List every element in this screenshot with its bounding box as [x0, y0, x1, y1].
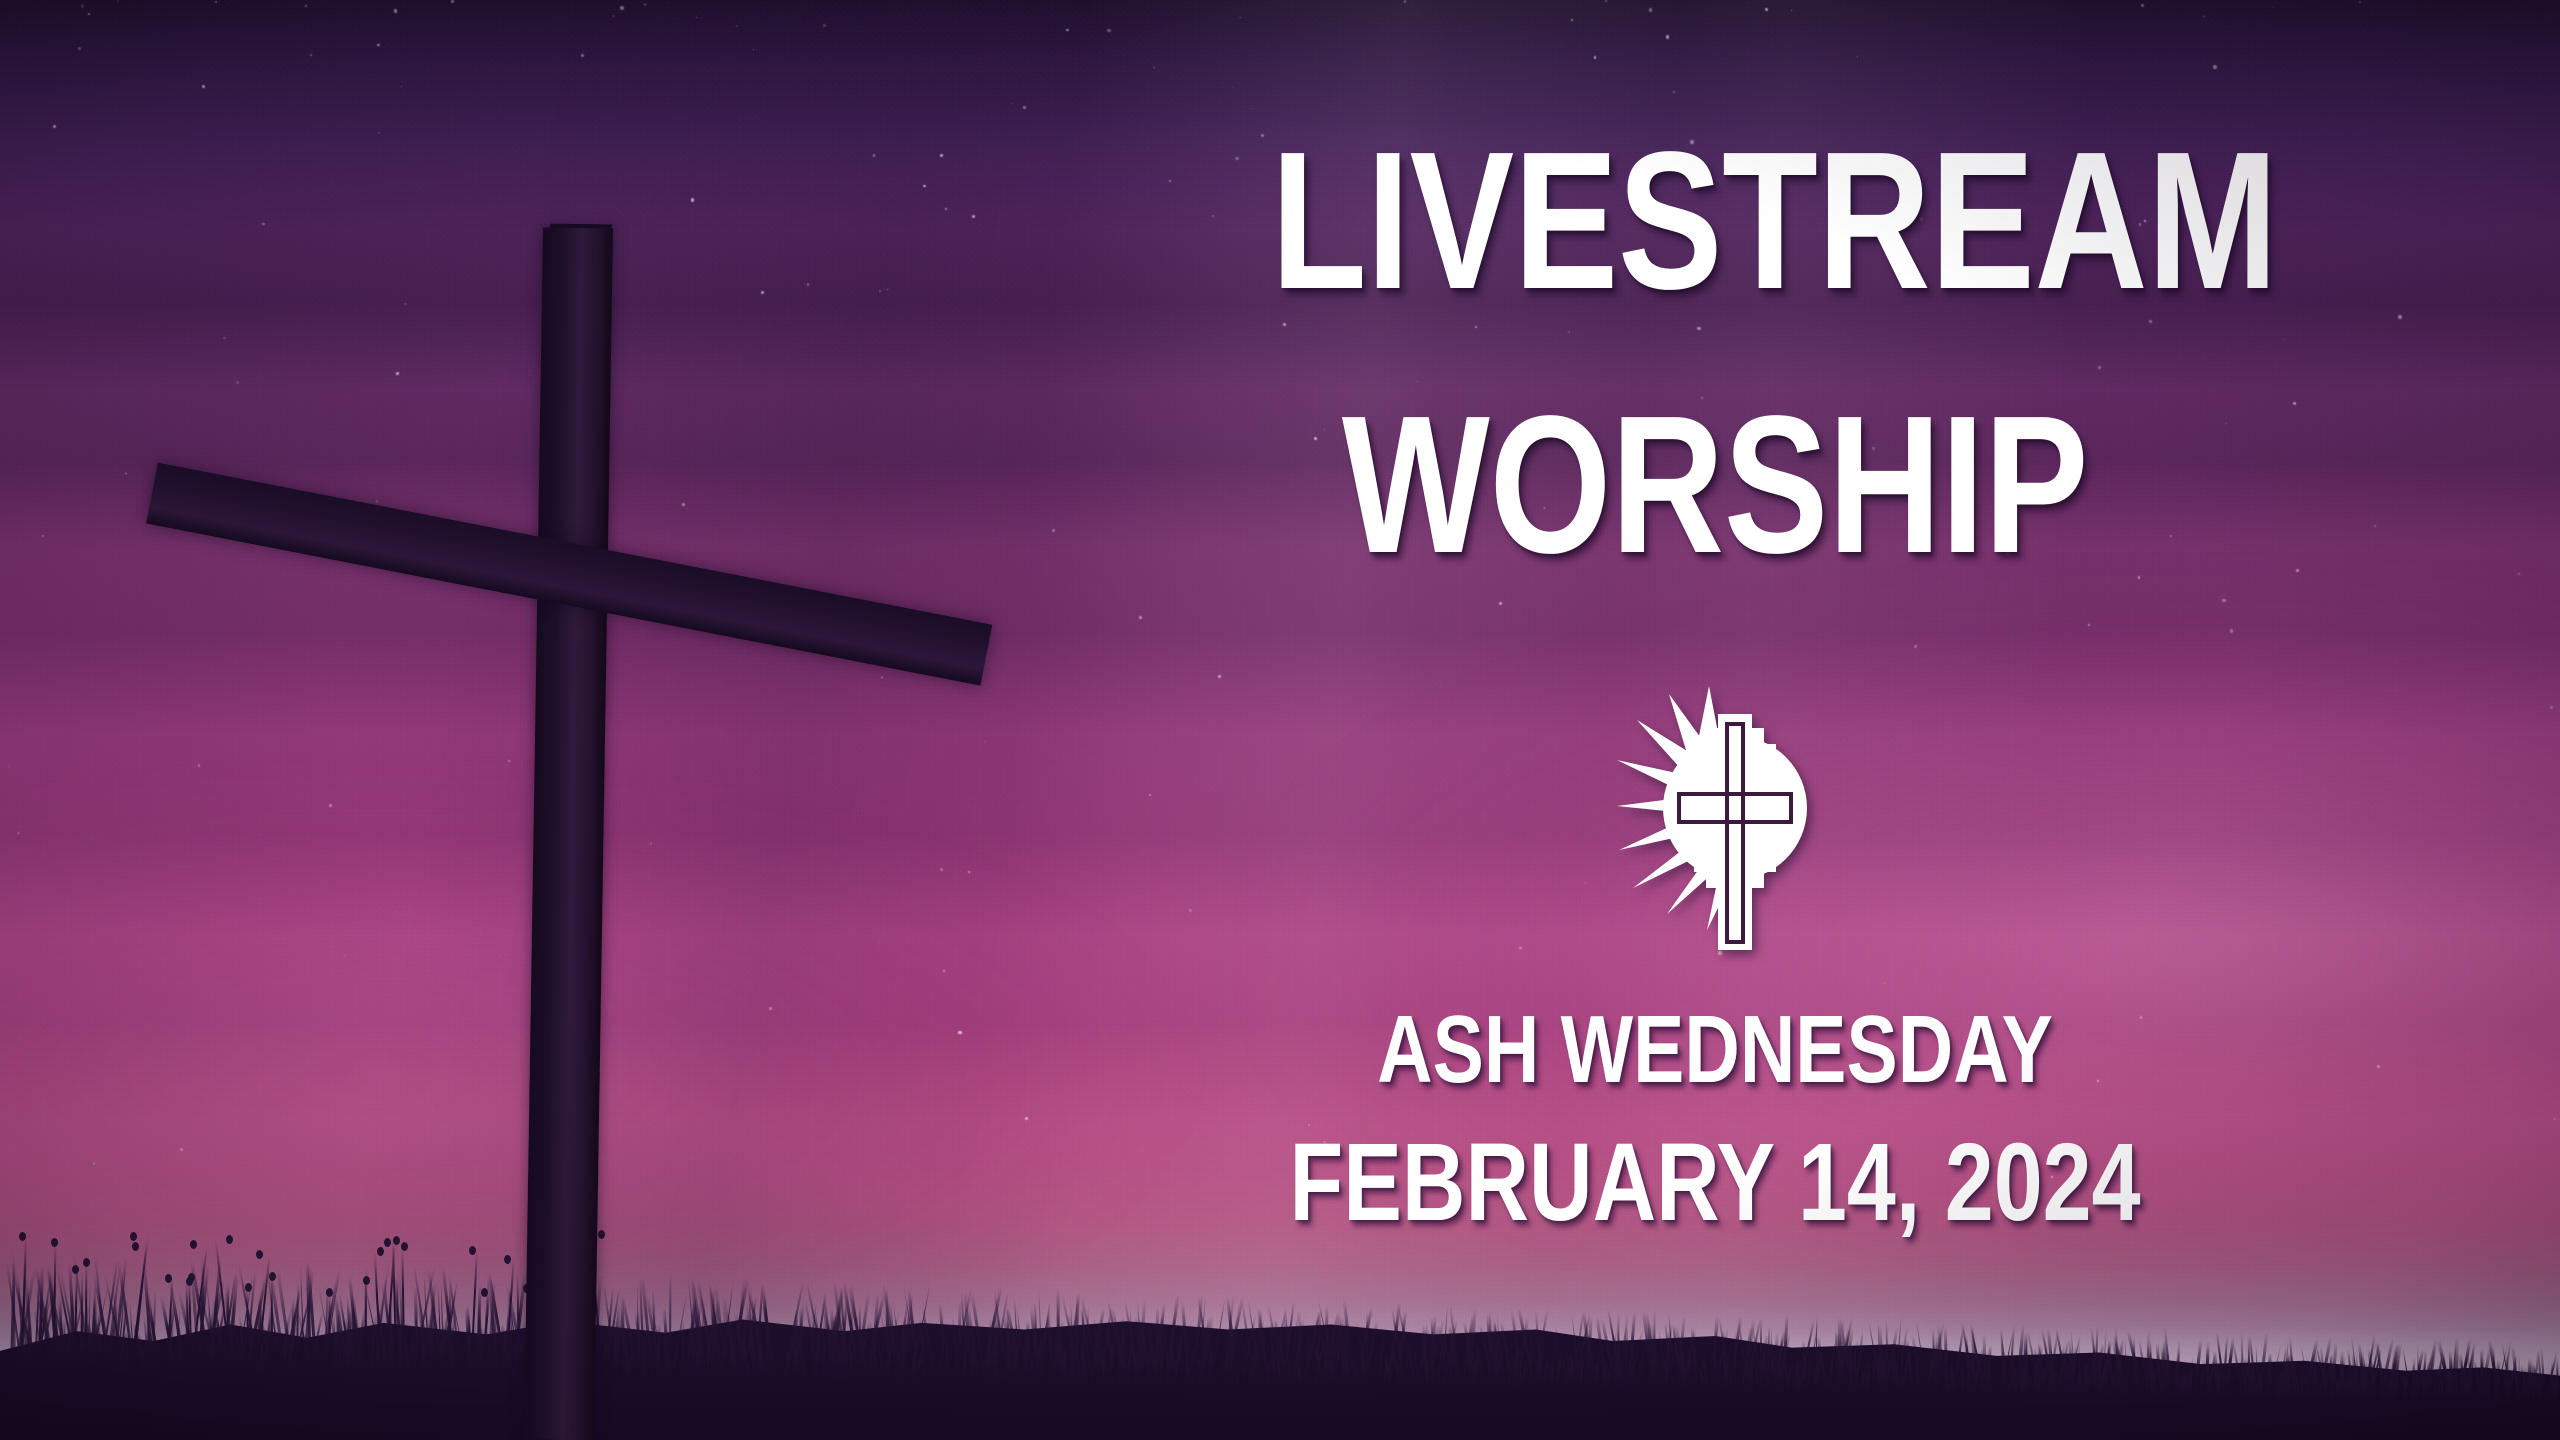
subtitle-occasion: ASH WEDNESDAY	[1271, 1002, 2159, 1098]
sky-glow-left	[0, 806, 1178, 1296]
title-text-column: LIVESTREAM WORSHIP	[1160, 0, 2270, 1440]
subtitle-date: FEBRUARY 14, 2024	[1271, 1128, 2159, 1238]
headline-line-1: LIVESTREAM	[1271, 128, 2159, 314]
title-card: LIVESTREAM WORSHIP	[0, 0, 2560, 1440]
headline-line-2: WORSHIP	[1271, 392, 2159, 578]
sunburst-cross-icon	[1617, 686, 1813, 958]
